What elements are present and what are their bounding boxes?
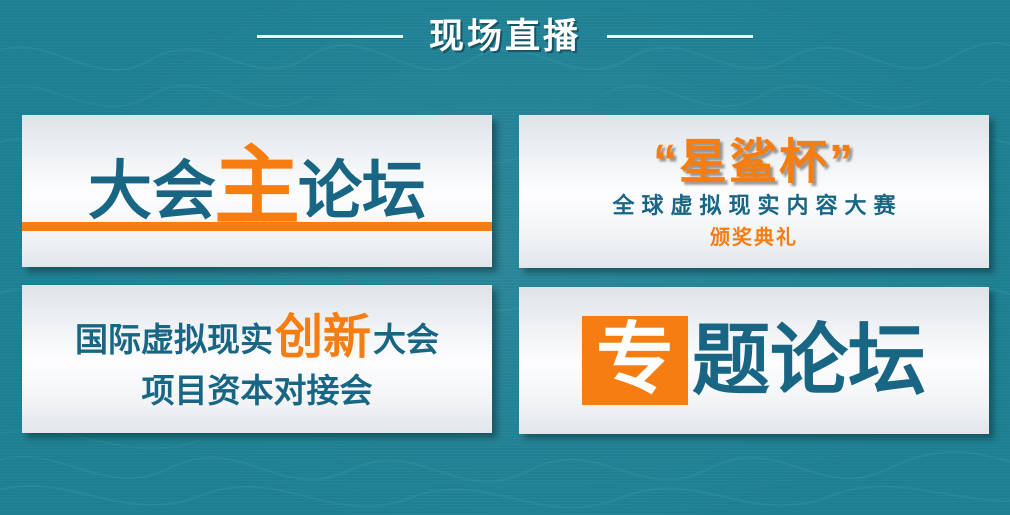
card-topic-forum-content: 专 题论坛 <box>519 287 989 434</box>
card-star-shark-cup-content: “星鲨杯” 全球虚拟现实内容大赛 颁奖典礼 <box>519 115 989 268</box>
innovation-line-one: 国际虚拟现实 创新 大会 <box>75 312 439 360</box>
page-title: 现场直播 <box>429 19 581 54</box>
card-star-shark-cup[interactable]: “星鲨杯” 全球虚拟现实内容大赛 颁奖典礼 <box>519 115 989 268</box>
header-rule-right <box>607 35 753 38</box>
cup-subtitle: 全球虚拟现实内容大赛 <box>605 194 902 218</box>
card-main-forum[interactable]: 大会 主 论坛 <box>22 115 492 267</box>
topic-forum-rest: 题论坛 <box>692 325 926 395</box>
innovation-line-two: 项目资本对接会 <box>142 374 373 407</box>
innovation-suffix: 大会 <box>373 323 439 356</box>
main-forum-prefix: 大会 <box>88 159 216 223</box>
cup-title: “星鲨杯” <box>653 138 855 188</box>
card-innovation-conference[interactable]: 国际虚拟现实 创新 大会 项目资本对接会 <box>22 285 492 433</box>
main-forum-highlight: 主 <box>214 144 300 230</box>
card-main-forum-title: 大会 主 论坛 <box>22 115 492 267</box>
card-innovation-conference-content: 国际虚拟现实 创新 大会 项目资本对接会 <box>22 285 492 433</box>
card-topic-forum[interactable]: 专 题论坛 <box>519 287 989 434</box>
main-forum-suffix: 论坛 <box>298 159 426 223</box>
banner-header: 现场直播 <box>0 0 1010 72</box>
innovation-highlight: 创新 <box>275 314 371 362</box>
innovation-prefix: 国际虚拟现实 <box>75 323 273 356</box>
header-rule-left <box>257 35 403 38</box>
cup-event-label: 颁奖典礼 <box>710 227 798 249</box>
topic-forum-boxed-char: 专 <box>582 316 688 406</box>
live-broadcast-banner: 现场直播 大会 主 论坛 “星鲨杯” 全球虚拟现实内容大赛 颁奖典礼 国际虚拟现… <box>0 0 1010 515</box>
